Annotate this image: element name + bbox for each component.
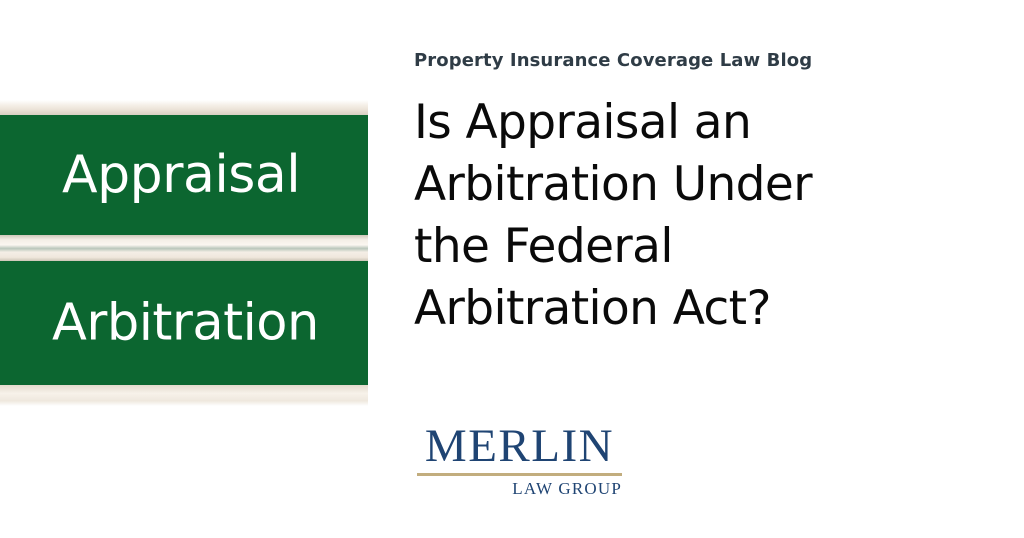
blog-promo-card: Appraisal Arbitration Property Insurance… bbox=[0, 0, 1024, 538]
appraisal-sign: Appraisal bbox=[0, 115, 368, 235]
title-line-3: the Federal bbox=[414, 216, 954, 278]
logo-tagline: LAW GROUP bbox=[417, 478, 622, 500]
title-line-2: Arbitration Under bbox=[414, 154, 954, 216]
logo-wordmark: MERLIN bbox=[417, 421, 622, 471]
article-title: Is Appraisal an Arbitration Under the Fe… bbox=[414, 92, 954, 340]
title-line-1: Is Appraisal an bbox=[414, 92, 954, 154]
logo-divider-rule bbox=[417, 473, 622, 476]
title-line-4: Arbitration Act? bbox=[414, 278, 954, 340]
sign-edge-middle bbox=[0, 235, 368, 261]
merlin-law-group-logo: MERLIN LAW GROUP bbox=[417, 421, 622, 500]
blog-name-kicker: Property Insurance Coverage Law Blog bbox=[414, 50, 812, 71]
appraisal-sign-label: Appraisal bbox=[62, 149, 300, 201]
text-column: Property Insurance Coverage Law Blog Is … bbox=[414, 0, 974, 538]
arbitration-sign: Arbitration bbox=[0, 261, 368, 385]
highway-sign-image: Appraisal Arbitration bbox=[0, 100, 368, 406]
sign-edge-bottom bbox=[0, 385, 368, 406]
sign-edge-top bbox=[0, 100, 368, 115]
arbitration-sign-label: Arbitration bbox=[52, 298, 319, 349]
